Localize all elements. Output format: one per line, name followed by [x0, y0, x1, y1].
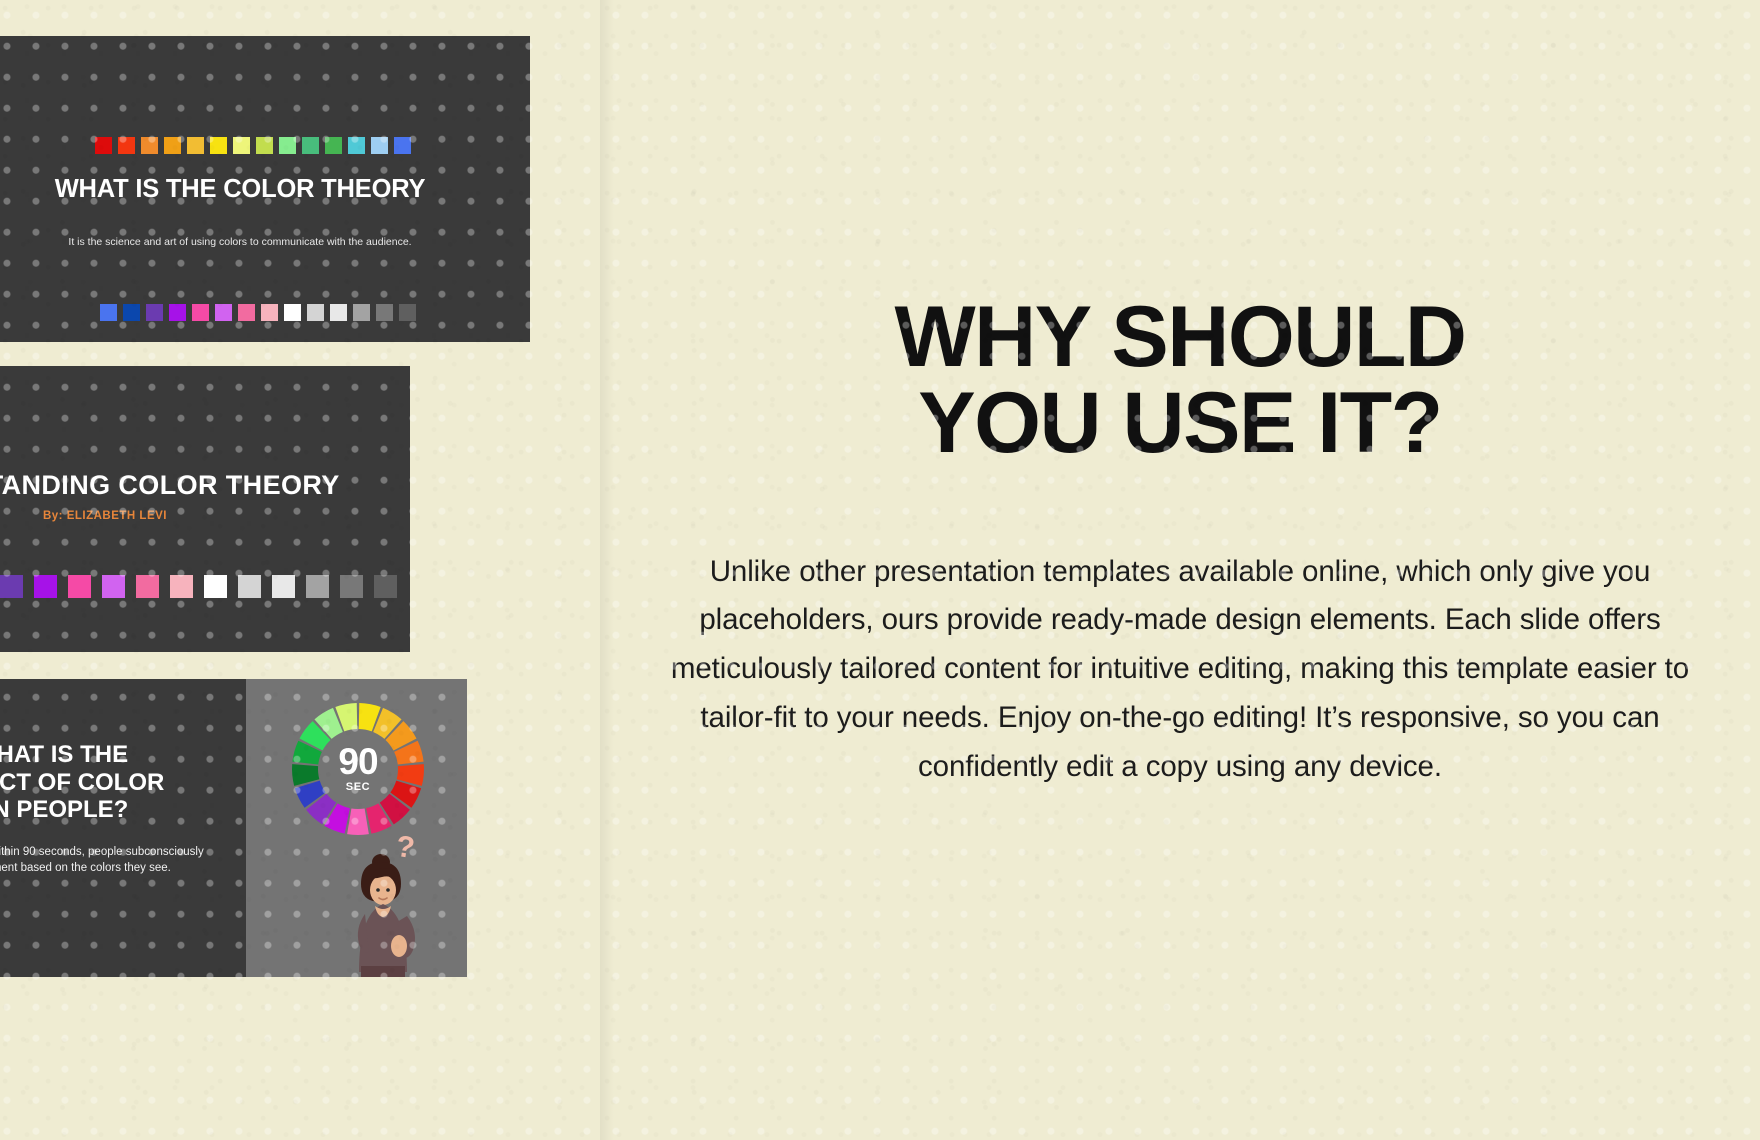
color-swatch [306, 575, 329, 598]
color-swatch [302, 137, 319, 154]
slide-thumbnail-rail: WHAT IS THE COLOR THEORY It is the scien… [0, 0, 600, 1140]
thinking-person-illustration [321, 854, 441, 977]
color-swatch [136, 575, 159, 598]
color-swatch [330, 304, 347, 321]
color-swatch [187, 137, 204, 154]
title-line-2: YOU USE IT? [660, 380, 1700, 466]
slide-thumbnail-effect-of-color-on-people[interactable]: WHAT IS THE EFFECT OF COLOR ON PEOPLE? S… [0, 679, 467, 977]
color-swatch [169, 304, 186, 321]
color-swatch [325, 137, 342, 154]
slide-thumbnail-what-is-color-theory[interactable]: WHAT IS THE COLOR THEORY It is the scien… [0, 36, 530, 342]
color-swatch [374, 575, 397, 598]
timer-number: 90 [338, 745, 377, 779]
swatch-row-warm [95, 137, 411, 154]
color-swatch [0, 575, 23, 598]
main-slide: WHY SHOULD YOU USE IT? Unlike other pres… [600, 0, 1760, 1140]
timer-unit: SEC [346, 781, 370, 793]
color-swatch [118, 137, 135, 154]
color-swatch [95, 137, 112, 154]
main-body-text: Unlike other presentation templates avai… [640, 548, 1720, 793]
color-swatch [68, 575, 91, 598]
color-swatch [204, 575, 227, 598]
thumbnail-title: UNDERSTANDING COLOR THEORY [0, 470, 410, 501]
color-swatch [256, 137, 273, 154]
color-swatch [215, 304, 232, 321]
color-swatch [307, 304, 324, 321]
color-swatch [210, 137, 227, 154]
page-title: WHY SHOULD YOU USE IT? [660, 294, 1700, 466]
color-swatch [141, 137, 158, 154]
color-swatch [233, 137, 250, 154]
color-swatch [272, 575, 295, 598]
presentation-preview-canvas: WHAT IS THE COLOR THEORY It is the scien… [0, 0, 1760, 1140]
title-line-3: ON PEOPLE? [0, 796, 128, 823]
thumbnail-text-panel: WHAT IS THE EFFECT OF COLOR ON PEOPLE? S… [0, 679, 246, 977]
color-swatch [376, 304, 393, 321]
color-swatch [284, 304, 301, 321]
color-swatch [192, 304, 209, 321]
color-swatch [34, 575, 57, 598]
color-swatch [353, 304, 370, 321]
swatch-row-purples [0, 575, 397, 598]
color-swatch [399, 304, 416, 321]
wheel-segment [347, 808, 369, 835]
slide-thumbnail-understanding-color-theory[interactable]: UNDERSTANDING COLOR THEORY By: ELIZABETH… [0, 366, 410, 652]
color-wheel-90sec-graphic: 90 SEC [290, 701, 426, 837]
title-line-2: EFFECT OF COLOR [0, 769, 164, 796]
color-swatch [394, 137, 411, 154]
timer-hub: 90 SEC [320, 731, 396, 807]
color-swatch [102, 575, 125, 598]
color-swatch [340, 575, 363, 598]
thumbnail-image-panel: 90 SEC ? [246, 679, 467, 977]
title-line-1: WHAT IS THE [0, 741, 128, 768]
color-swatch [371, 137, 388, 154]
swatch-row-cool [100, 304, 416, 321]
color-swatch [170, 575, 193, 598]
title-line-1: WHY SHOULD [660, 294, 1700, 380]
color-swatch [238, 304, 255, 321]
color-swatch [146, 304, 163, 321]
color-swatch [164, 137, 181, 154]
thumbnail-byline: By: ELIZABETH LEVI [0, 510, 410, 522]
color-swatch [261, 304, 278, 321]
color-swatch [100, 304, 117, 321]
color-swatch [238, 575, 261, 598]
color-swatch [279, 137, 296, 154]
thumbnail-body-text: Studies show that within 90 seconds, peo… [0, 844, 210, 877]
thumbnail-title: WHAT IS THE COLOR THEORY [0, 176, 480, 203]
thumbnail-title: WHAT IS THE EFFECT OF COLOR ON PEOPLE? [0, 741, 246, 824]
color-swatch [348, 137, 365, 154]
color-swatch [123, 304, 140, 321]
thumbnail-subtitle: It is the science and art of using color… [50, 236, 430, 248]
